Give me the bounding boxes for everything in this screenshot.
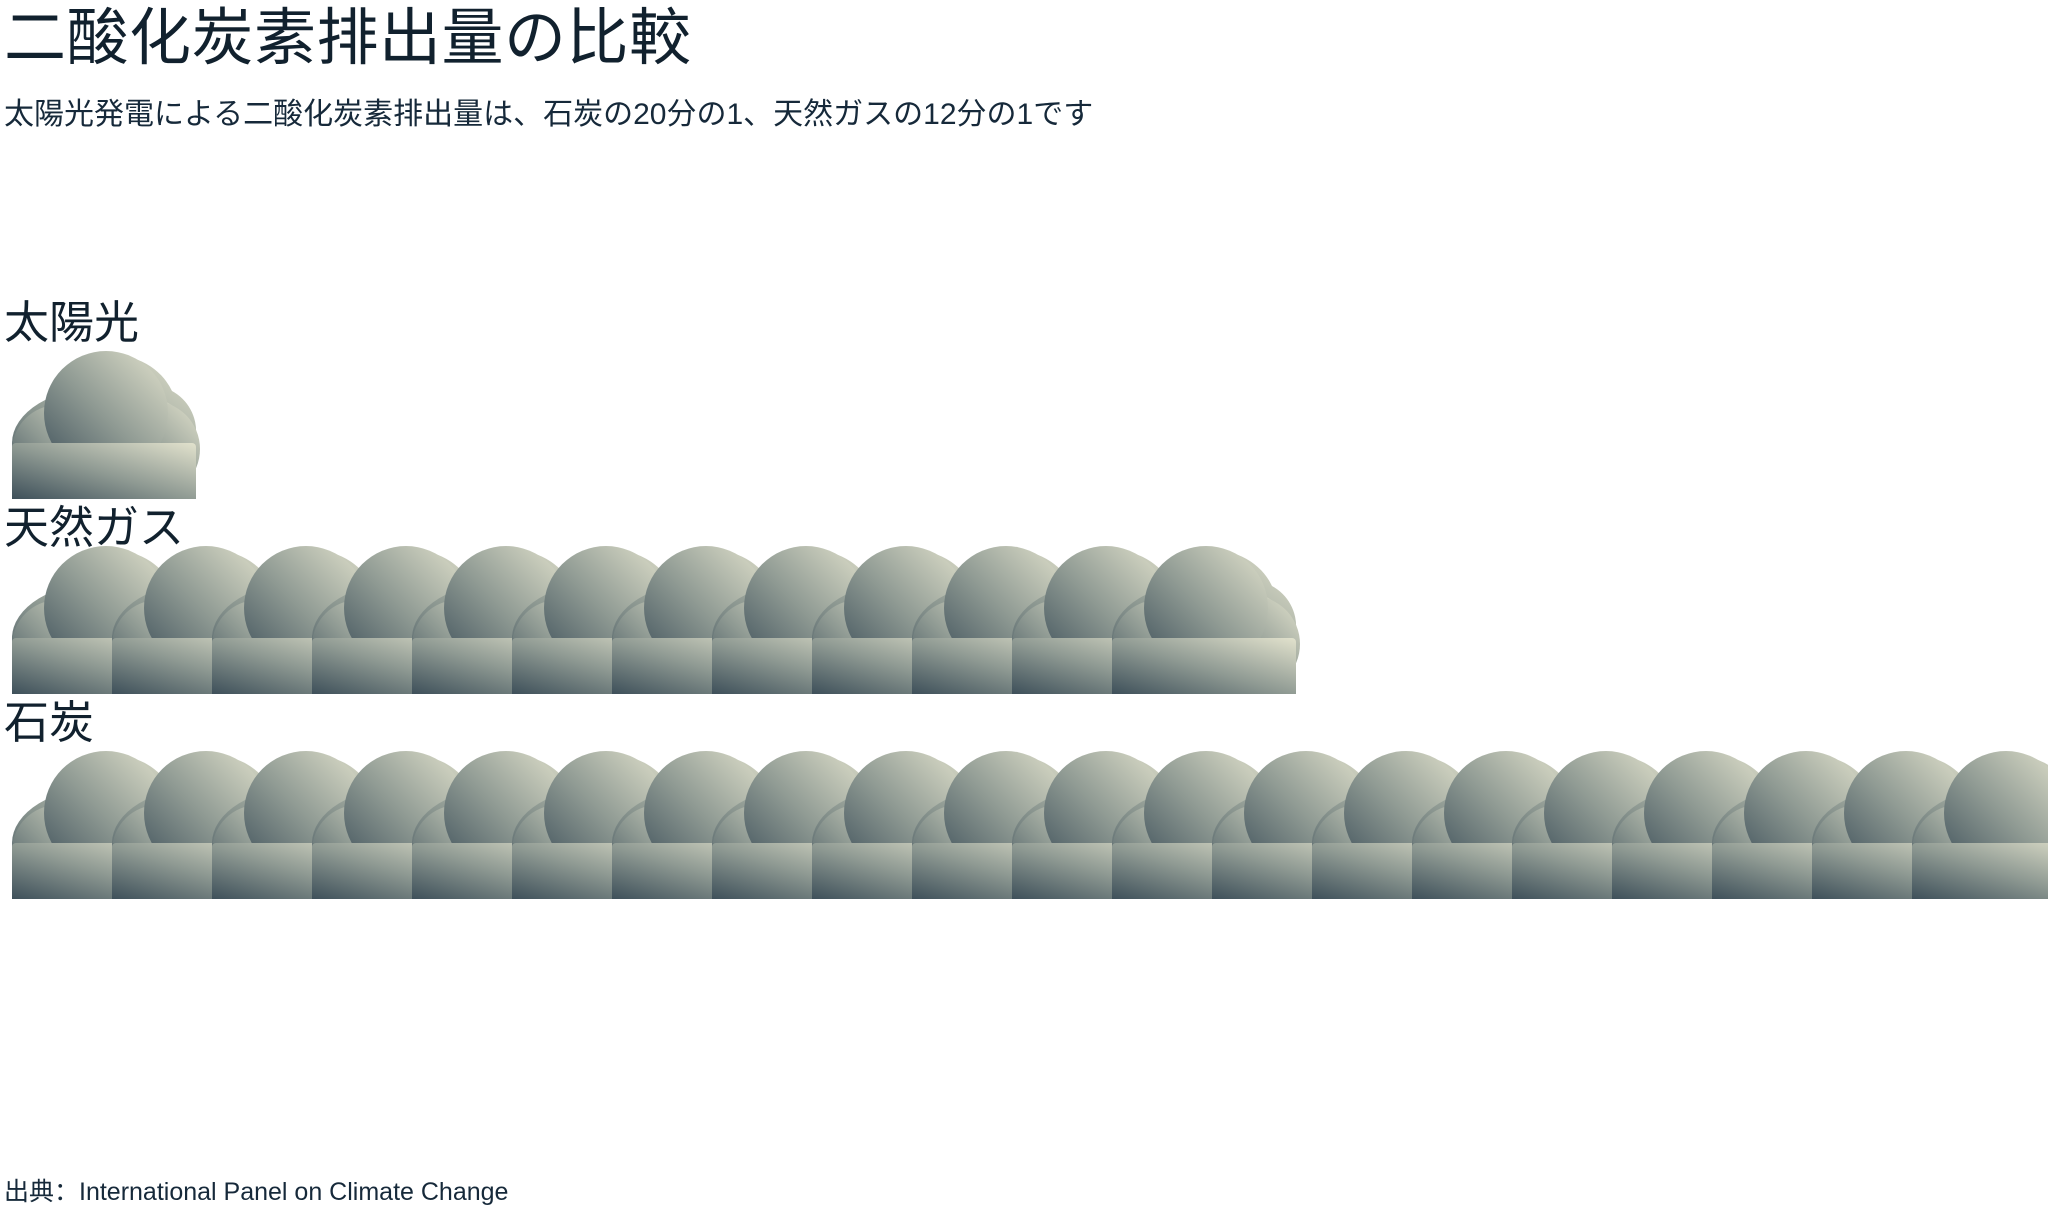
series-row-coal: 石炭 bbox=[0, 700, 2048, 899]
cloud-track-solar bbox=[0, 359, 210, 499]
cloud-track-coal bbox=[0, 759, 2048, 899]
cloud-icon bbox=[1900, 739, 2048, 899]
page-title: 二酸化炭素排出量の比較 bbox=[4, 4, 2048, 73]
cloud-track-natural-gas bbox=[0, 564, 1310, 694]
source-note: 出典：International Panel on Climate Change bbox=[4, 1177, 508, 1207]
series-label-solar: 太陽光 bbox=[4, 300, 2048, 345]
infographic-page: 二酸化炭素排出量の比較 太陽光発電による二酸化炭素排出量は、石炭の20分の1、天… bbox=[0, 0, 2048, 1223]
series-row-solar: 太陽光 bbox=[0, 300, 2048, 499]
cloud-icon bbox=[1100, 534, 1310, 694]
page-subtitle: 太陽光発電による二酸化炭素排出量は、石炭の20分の1、天然ガスの12分の1です bbox=[4, 95, 2048, 136]
header: 二酸化炭素排出量の比較 太陽光発電による二酸化炭素排出量は、石炭の20分の1、天… bbox=[0, 0, 2048, 136]
pictogram-rows: 太陽光 天然ガス 石炭 bbox=[0, 300, 2048, 905]
series-row-natural-gas: 天然ガス bbox=[0, 505, 2048, 694]
cloud-icon bbox=[0, 339, 210, 499]
